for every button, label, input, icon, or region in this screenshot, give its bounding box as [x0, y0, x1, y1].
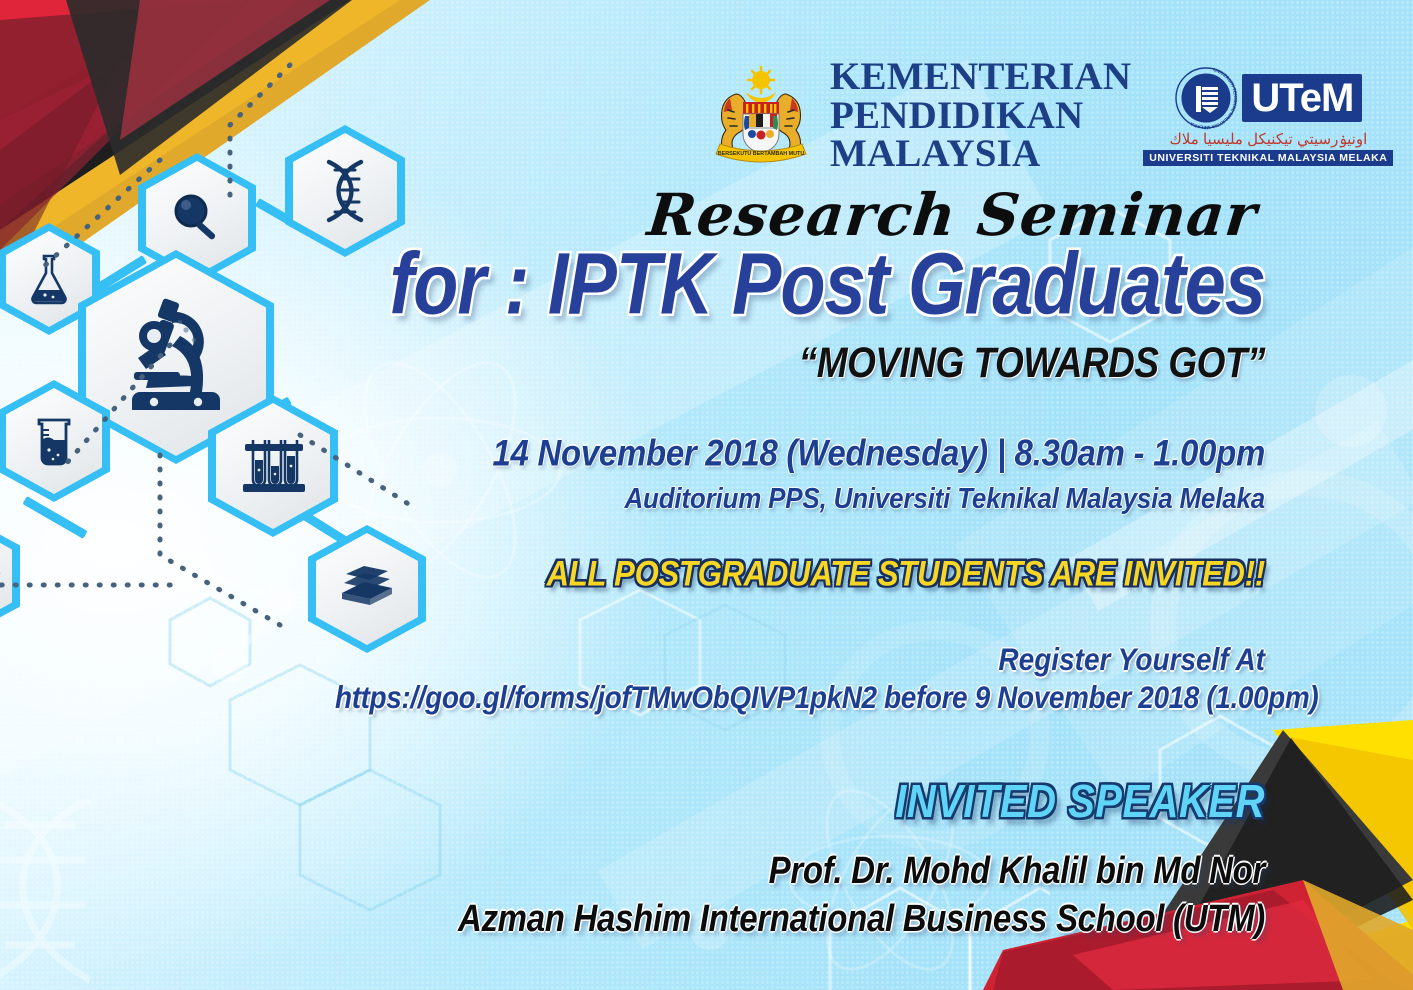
utem-banner-text: UNIVERSITI TEKNIKAL MALAYSIA MELAKA — [1143, 150, 1393, 166]
register-url-link[interactable]: https://goo.gl/forms/jofTMwObQIVP1pkN2 b… — [335, 680, 1265, 716]
malaysia-coat-of-arms: BERSEKUTU BERTAMBAH MUTU — [706, 66, 816, 166]
datetime-text: 14 November 2018 (Wednesday) | 8.30am - … — [335, 432, 1265, 475]
venue-text: Auditorium PPS, Universiti Teknikal Mala… — [335, 481, 1265, 516]
speaker-name: Prof. Dr. Mohd Khalil bin Md Nor — [335, 848, 1265, 892]
ministry-line-2: PENDIDIKAN — [830, 97, 1131, 136]
speaker-organization: Azman Hashim International Business Scho… — [335, 896, 1265, 940]
ministry-line-1: KEMENTERIAN — [830, 58, 1131, 97]
header-logos: BERSEKUTU BERTAMBAH MUTU KEMENTERIAN PEN… — [706, 58, 1393, 174]
speaker-heading: INVITED SPEAKER — [335, 776, 1265, 828]
ministry-of-education-logo: BERSEKUTU BERTAMBAH MUTU KEMENTERIAN PEN… — [706, 58, 1131, 174]
utem-wordmark: UTeM — [1242, 74, 1362, 122]
ministry-line-3: MALAYSIA — [830, 135, 1131, 174]
poster-content: Research Seminar for : IPTK Post Graduat… — [335, 186, 1265, 937]
ministry-name: KEMENTERIAN PENDIDIKAN MALAYSIA — [830, 58, 1131, 174]
dna-watermark — [0, 780, 230, 990]
seminar-poster: H O — [0, 0, 1413, 990]
dotted-connector — [0, 150, 180, 350]
page-title: for : IPTK Post Graduates — [335, 242, 1265, 326]
register-heading: Register Yourself At — [335, 642, 1265, 678]
svg-text:BERSEKUTU BERTAMBAH MUTU: BERSEKUTU BERTAMBAH MUTU — [718, 151, 805, 157]
utem-seal-icon: UNIVERSITI TEKNIKAL MALAYSIA MELAKA — [1174, 66, 1238, 130]
utem-logo: UNIVERSITI TEKNIKAL MALAYSIA MELAKA UTeM — [1143, 66, 1393, 166]
theme-quote: “MOVING TOWARDS GOT” — [335, 339, 1265, 388]
call-to-action-text: ALL POSTGRADUATE STUDENTS ARE INVITED!! — [335, 554, 1265, 595]
utem-jawi-text: اونيۏرسيتي تيكنيكل مليسيا ملاك — [1169, 131, 1367, 148]
